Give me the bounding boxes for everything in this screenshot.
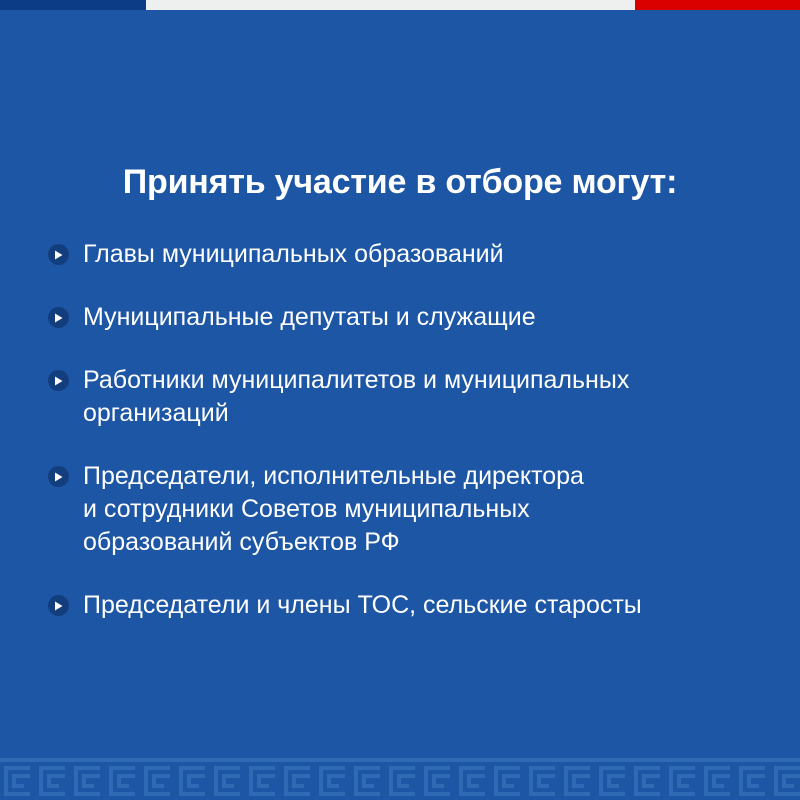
list-item: Председатели и члены ТОС, сельские старо…: [48, 589, 768, 622]
list-item: Председатели, исполнительные директора и…: [48, 460, 768, 559]
flag-strip-segment-red: [635, 0, 800, 10]
list-item-label: Муниципальные депутаты и служащие: [83, 301, 768, 334]
list-item: Работники муниципалитетов и муниципальны…: [48, 364, 768, 430]
slide-canvas: Принять участие в отборе могут: Главы му…: [0, 0, 800, 800]
greek-key-meander-band: [0, 752, 800, 800]
play-triangle-icon: [48, 595, 69, 616]
flag-strip: [0, 0, 800, 10]
list-item-label: Председатели и члены ТОС, сельские старо…: [83, 589, 768, 622]
list-item-label: Работники муниципалитетов и муниципальны…: [83, 364, 768, 430]
page-title: Принять участие в отборе могут:: [0, 162, 800, 202]
list-item-label: Председатели, исполнительные директора и…: [83, 460, 768, 559]
play-triangle-icon: [48, 370, 69, 391]
flag-strip-segment-blue: [0, 0, 146, 10]
play-triangle-icon: [48, 307, 69, 328]
list-item-label: Главы муниципальных образований: [83, 238, 768, 271]
list-item: Муниципальные депутаты и служащие: [48, 301, 768, 334]
play-triangle-icon: [48, 244, 69, 265]
list-item: Главы муниципальных образований: [48, 238, 768, 271]
eligibility-list: Главы муниципальных образований Муниципа…: [48, 238, 768, 622]
flag-strip-segment-white: [146, 0, 635, 10]
play-triangle-icon: [48, 466, 69, 487]
